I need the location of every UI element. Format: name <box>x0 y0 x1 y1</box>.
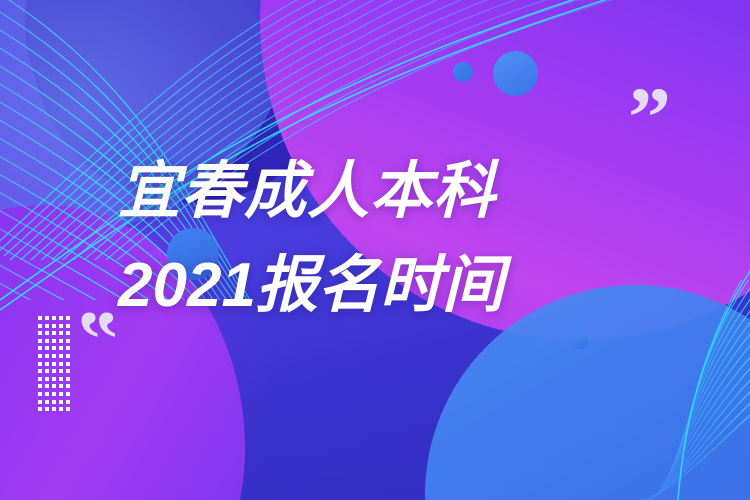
decor-circle-small <box>453 62 473 82</box>
dot-grid-cell <box>52 377 56 381</box>
dot-grid-cell <box>66 407 70 411</box>
dot-grid-cell <box>45 339 49 343</box>
dot-grid-cell <box>66 362 70 366</box>
dot-grid-cell <box>66 377 70 381</box>
quote-mark-opening: ” <box>78 300 118 380</box>
dot-grid-cell <box>45 324 49 328</box>
dot-grid-cell <box>38 392 42 396</box>
dot-grid-cell <box>52 384 56 388</box>
dot-grid-cell <box>66 324 70 328</box>
dot-grid-cell <box>66 369 70 373</box>
dot-grid-cell <box>52 316 56 320</box>
dot-grid-cell <box>52 354 56 358</box>
dot-grid-cell <box>45 346 49 350</box>
dot-grid-cell <box>45 316 49 320</box>
headline-line-1: 宜春成人本科 <box>118 145 678 239</box>
dot-grid-cell <box>38 407 42 411</box>
decor-circle-large <box>493 51 538 96</box>
dot-grid-cell <box>38 400 42 404</box>
dot-grid-cell <box>66 339 70 343</box>
dot-grid-cell <box>38 346 42 350</box>
banner-headline: 宜春成人本科 2021报名时间 <box>118 145 678 333</box>
dot-grid-cell <box>38 339 42 343</box>
dot-grid-cell <box>59 362 63 366</box>
dot-grid-cell <box>45 407 49 411</box>
dot-grid-decoration <box>38 316 71 415</box>
dot-grid-cell <box>38 324 42 328</box>
dot-grid-cell <box>66 346 70 350</box>
dot-grid-cell <box>59 407 63 411</box>
dot-grid-cell <box>38 362 42 366</box>
dot-grid-cell <box>59 369 63 373</box>
dot-grid-cell <box>38 331 42 335</box>
dot-grid-cell <box>59 316 63 320</box>
dot-grid-cell <box>66 392 70 396</box>
dot-grid-cell <box>45 354 49 358</box>
dot-grid-cell <box>52 407 56 411</box>
dot-grid-cell <box>38 354 42 358</box>
dot-grid-cell <box>45 400 49 404</box>
dot-grid-cell <box>59 377 63 381</box>
dot-grid-cell <box>59 354 63 358</box>
headline-line-2: 2021报名时间 <box>118 239 678 333</box>
dot-grid-cell <box>52 392 56 396</box>
dot-grid-cell <box>45 377 49 381</box>
dot-grid-cell <box>45 384 49 388</box>
dot-grid-cell <box>52 324 56 328</box>
dot-grid-cell <box>59 346 63 350</box>
decor-circle-tiny <box>572 333 588 349</box>
dot-grid-cell <box>45 392 49 396</box>
dot-grid-cell <box>66 316 70 320</box>
dot-grid-cell <box>45 362 49 366</box>
promo-banner: ” ” 宜春成人本科 2021报名时间 <box>0 0 750 500</box>
dot-grid-cell <box>59 392 63 396</box>
dot-grid-cell <box>59 384 63 388</box>
dot-grid-cell <box>59 324 63 328</box>
dot-grid-cell <box>45 331 49 335</box>
dot-grid-cell <box>38 369 42 373</box>
dot-grid-cell <box>59 339 63 343</box>
dot-grid-cell <box>52 339 56 343</box>
dot-grid-cell <box>38 377 42 381</box>
dot-grid-cell <box>59 331 63 335</box>
dot-grid-cell <box>52 400 56 404</box>
dot-grid-cell <box>52 362 56 366</box>
dot-grid-cell <box>52 346 56 350</box>
dot-grid-cell <box>38 316 42 320</box>
dot-grid-cell <box>52 369 56 373</box>
dot-grid-cell <box>45 369 49 373</box>
dot-grid-cell <box>52 331 56 335</box>
dot-grid-cell <box>66 384 70 388</box>
dot-grid-cell <box>66 354 70 358</box>
dot-grid-cell <box>66 400 70 404</box>
dot-grid-cell <box>59 400 63 404</box>
dot-grid-cell <box>66 331 70 335</box>
dot-grid-cell <box>38 384 42 388</box>
